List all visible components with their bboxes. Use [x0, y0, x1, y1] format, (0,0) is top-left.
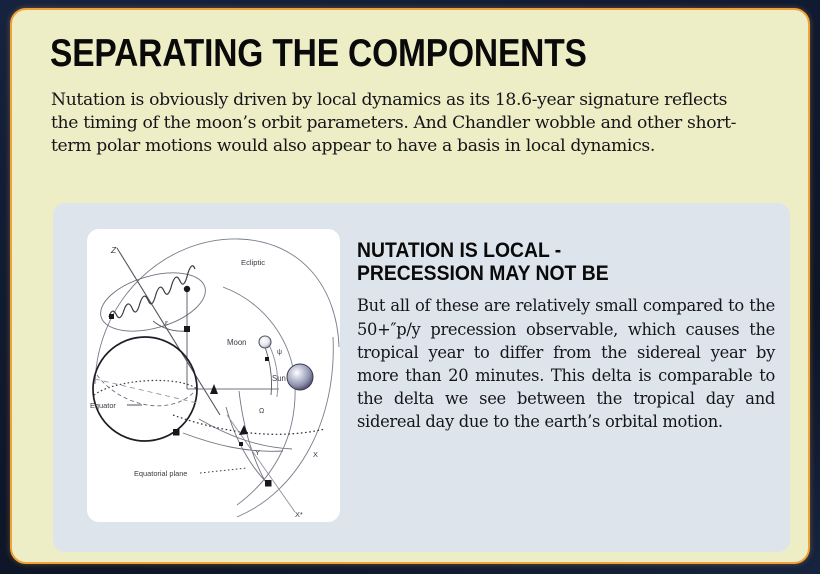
- equinox-arc-3: [226, 407, 269, 485]
- ecliptic-arc-outer: [95, 239, 339, 384]
- equatorial-plane-dotted: [173, 415, 325, 434]
- panel-text-column: NUTATION IS LOCAL - PRECESSION MAY NOT B…: [357, 239, 775, 433]
- true-pole-marker: [184, 286, 190, 292]
- label-leaders: [127, 405, 247, 473]
- figure-label-z: Z: [110, 245, 117, 255]
- mean-pole-marker: [184, 326, 190, 332]
- ecliptic-arc-lower: [237, 337, 333, 517]
- figure-label-omega: Ω: [259, 408, 264, 415]
- earth-axis-projection: [95, 379, 197, 403]
- equatorial-plane-leader: [200, 468, 247, 473]
- diagram-markers: [109, 286, 313, 487]
- sun-body: [287, 364, 313, 390]
- figure-label-x-star: X*: [295, 510, 303, 519]
- ecliptic-inner-arc: [223, 287, 295, 505]
- panel-heading: NUTATION IS LOCAL - PRECESSION MAY NOT B…: [357, 239, 733, 285]
- figure-label-ecliptic: Ecliptic: [241, 258, 265, 267]
- figure-label-epsilon: ε: [165, 320, 168, 327]
- node-marker-1: [173, 429, 180, 436]
- figure-label-sun: Sun: [272, 374, 286, 383]
- figure-label-moon: Moon: [227, 338, 247, 347]
- precession-nutation-diagram: Z Ecliptic Moon Sun Equator Equatorial p…: [87, 229, 340, 522]
- figure-label-psi: ψ: [277, 349, 282, 356]
- content-panel: Z Ecliptic Moon Sun Equator Equatorial p…: [53, 203, 790, 552]
- node-marker-3: [239, 442, 243, 446]
- intro-paragraph: Nutation is obviously driven by local dy…: [51, 89, 758, 158]
- epsilon-arc: [153, 321, 187, 331]
- x-star-line: [227, 415, 295, 512]
- figure-label-gamma: Υ: [255, 448, 260, 457]
- slide-card: SEPARATING THE COMPONENTS Nutation is ob…: [10, 8, 810, 564]
- panel-paragraph: But all of these are relatively small co…: [357, 294, 775, 433]
- figure-label-equatorial-plane: Equatorial plane: [134, 469, 187, 478]
- node-marker-2: [265, 480, 272, 487]
- earth-sphere: [93, 337, 197, 441]
- moon-body: [259, 336, 271, 348]
- equinox-arc-4: [239, 391, 265, 481]
- page-title: SEPARATING THE COMPONENTS: [50, 34, 678, 73]
- arrowhead-up-2: [239, 425, 248, 435]
- figure-label-x: X: [313, 450, 318, 459]
- wobble-start-marker: [109, 314, 114, 319]
- node-marker-4: [265, 357, 269, 361]
- figure-label-equator: Equator: [90, 401, 116, 410]
- figure-card: Z Ecliptic Moon Sun Equator Equatorial p…: [87, 229, 340, 522]
